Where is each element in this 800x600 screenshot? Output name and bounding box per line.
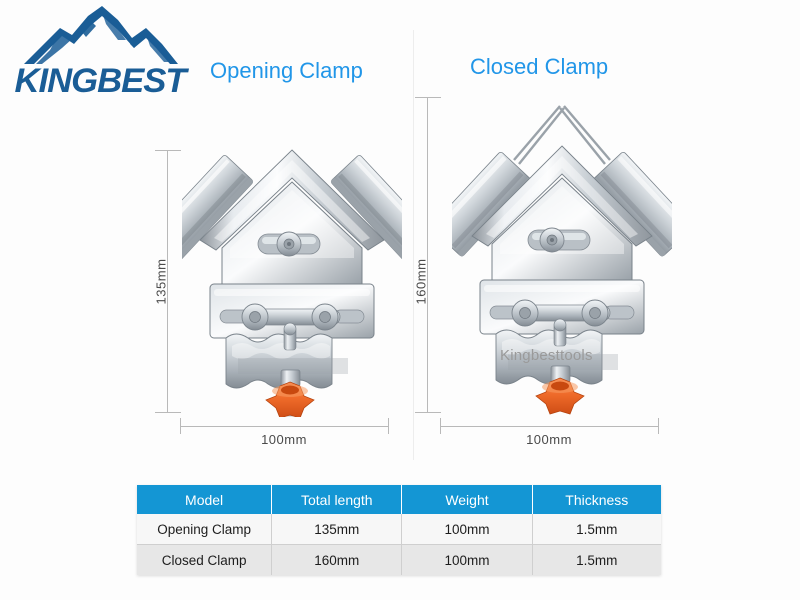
dim-cap-bottom-left	[155, 412, 181, 413]
orange-knob	[536, 378, 584, 414]
dim-cap-top-right	[415, 97, 441, 98]
table-row: Closed Clamp 160mm 100mm 1.5mm	[137, 545, 661, 576]
dim-cap-right-bottom-right	[658, 418, 659, 434]
panel-title-opening-clamp: Opening Clamp	[210, 58, 363, 84]
dim-label-100mm-left: 100mm	[234, 432, 334, 447]
cell-model: Opening Clamp	[137, 514, 272, 545]
dim-cap-bottom-right	[415, 412, 441, 413]
panel-divider	[413, 30, 414, 460]
cell-weight: 100mm	[402, 545, 532, 576]
cell-thickness: 1.5mm	[532, 514, 661, 545]
product-image-closed-clamp	[452, 102, 672, 420]
specification-table: Model Total length Weight Thickness Open…	[137, 485, 661, 575]
product-image-opening-clamp	[182, 142, 402, 417]
orange-knob	[266, 382, 314, 417]
brand-name: KINGBEST	[8, 62, 192, 101]
dim-cap-right-bottom-left	[388, 418, 389, 434]
dim-label-135mm: 135mm	[154, 252, 169, 312]
cell-model: Closed Clamp	[137, 545, 272, 576]
table-header-model: Model	[137, 485, 272, 514]
cell-length: 135mm	[272, 514, 402, 545]
table-header-total-length: Total length	[272, 485, 402, 514]
mountain-range-icon	[22, 4, 182, 66]
dim-cap-top-left	[155, 150, 181, 151]
cell-thickness: 1.5mm	[532, 545, 661, 576]
cell-length: 160mm	[272, 545, 402, 576]
panel-title-closed-clamp: Closed Clamp	[470, 54, 608, 80]
cell-weight: 100mm	[402, 514, 532, 545]
table-row: Opening Clamp 135mm 100mm 1.5mm	[137, 514, 661, 545]
table-header-thickness: Thickness	[532, 485, 661, 514]
table-header-row: Model Total length Weight Thickness	[137, 485, 661, 514]
dim-line-horizontal-right	[440, 426, 658, 427]
dim-label-160mm: 160mm	[414, 252, 429, 312]
table-header-weight: Weight	[402, 485, 532, 514]
brand-logo: KINGBEST	[10, 4, 190, 102]
dim-line-horizontal-left	[180, 426, 388, 427]
dim-label-100mm-right: 100mm	[499, 432, 599, 447]
